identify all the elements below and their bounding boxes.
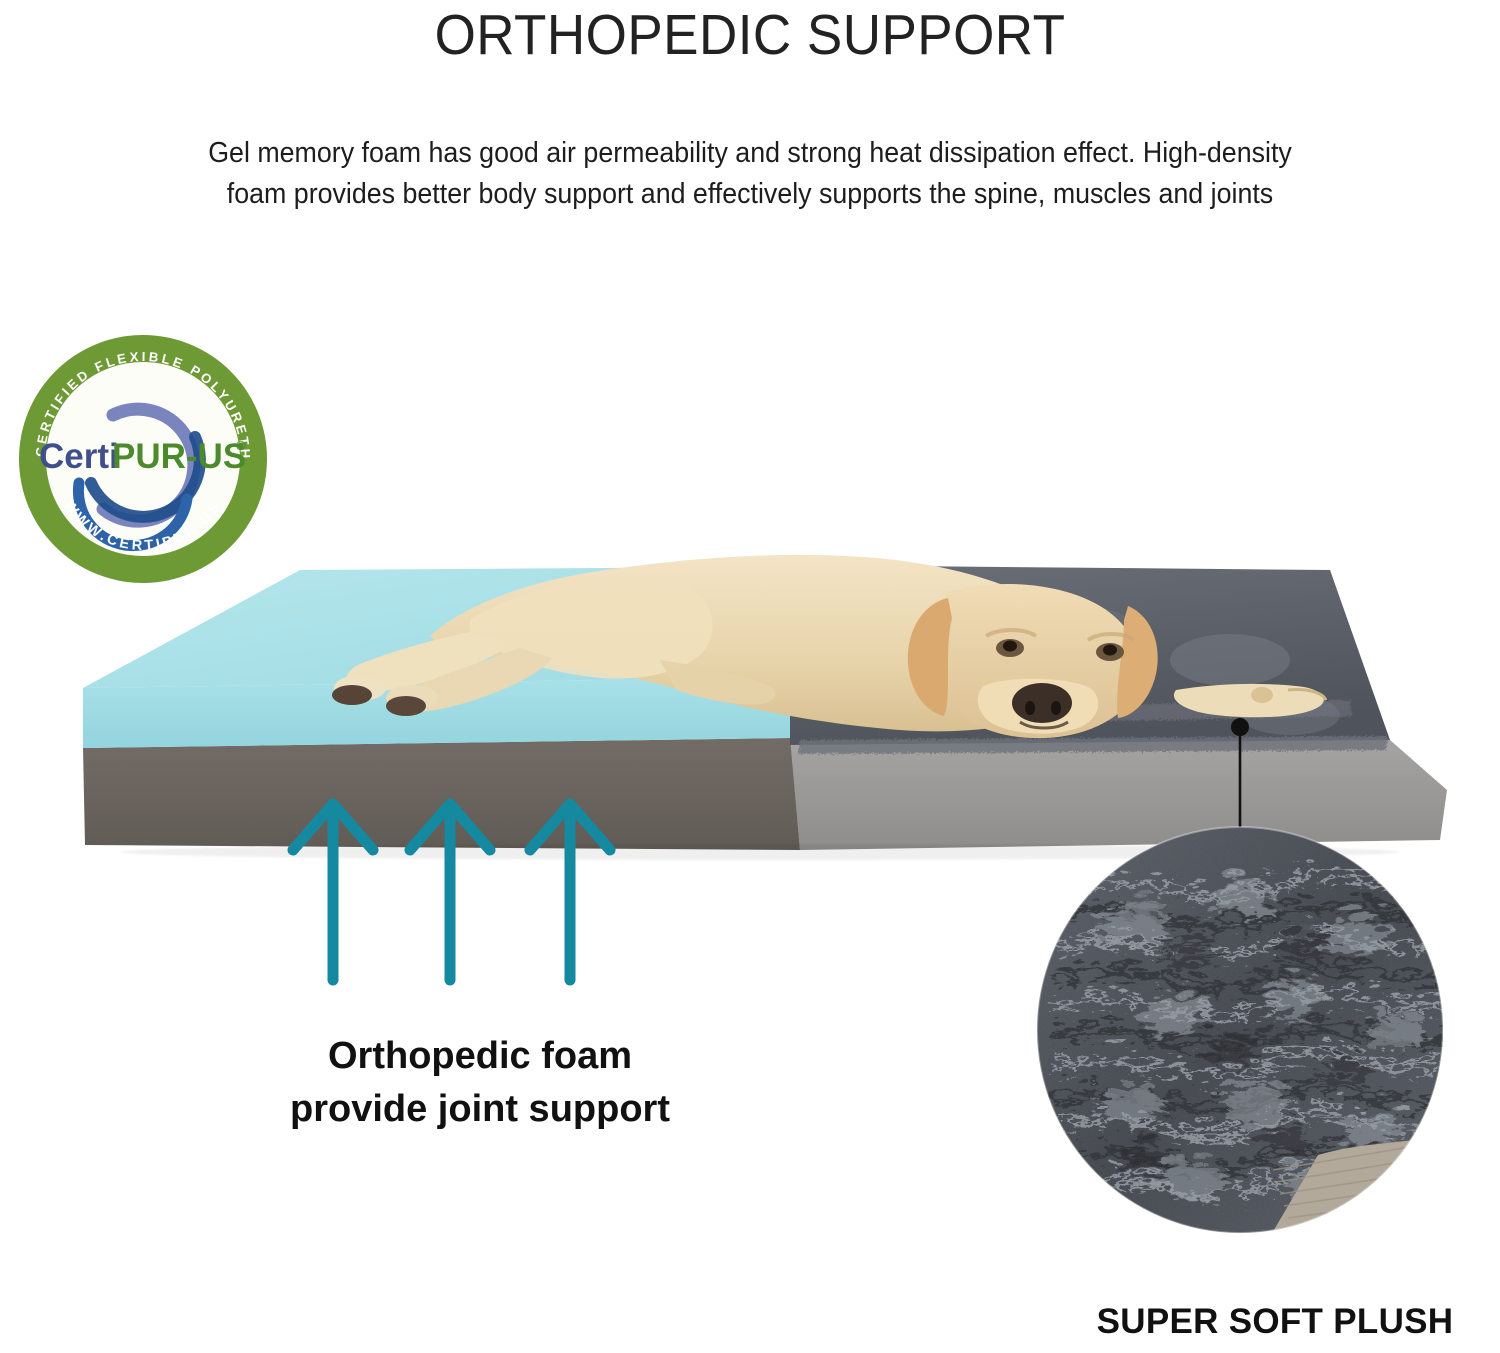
svg-text:PUR-US: PUR-US	[112, 437, 246, 476]
product-infographic: ORTHOPEDIC SUPPORT Gel memory foam has g…	[0, 0, 1500, 1353]
orthopedic-foam-caption: Orthopedic foam provide joint support	[200, 1030, 760, 1136]
dog-paw-pad-left	[332, 685, 372, 705]
arrow-up-1	[293, 804, 373, 980]
plush-closeup-callout	[1018, 700, 1488, 1290]
svg-text:Certi: Certi	[39, 437, 119, 476]
arrow-up-3	[530, 804, 610, 980]
svg-text:®: ®	[236, 438, 246, 453]
plush-caption: SUPER SOFT PLUSH	[1050, 1300, 1500, 1344]
badge-wordmark: Certi PUR-US ®	[39, 437, 246, 476]
page-title: ORTHOPEDIC SUPPORT	[53, 2, 1448, 68]
orthopedic-foam-arrows	[280, 770, 640, 995]
orthopedic-foam-caption-line1: Orthopedic foam	[200, 1030, 760, 1083]
dog-paw-pad-right	[386, 696, 426, 716]
page-subtitle: Gel memory foam has good air permeabilit…	[186, 133, 1314, 215]
orthopedic-foam-caption-line2: provide joint support	[200, 1083, 760, 1136]
arrow-up-2	[410, 804, 490, 980]
